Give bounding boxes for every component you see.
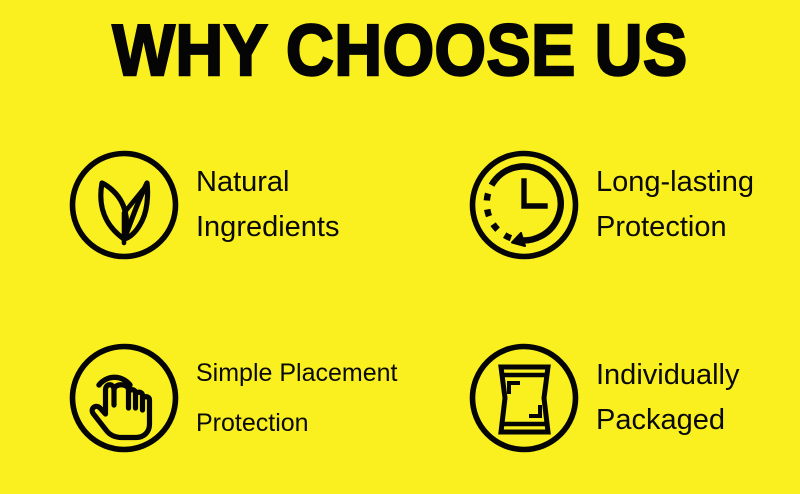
feature-label-line-2: Protection [196,398,397,448]
feature-label-line-2: Packaged [596,398,739,443]
feature-item-individually-packaged: Individually Packaged [400,301,800,494]
leaf-icon [68,149,180,261]
feature-label-line-2: Ingredients [196,205,340,250]
feature-label-line-2: Protection [596,205,754,250]
feature-item-long-lasting-protection: Long-lasting Protection [400,108,800,301]
clock-arrow-icon [468,149,580,261]
feature-label: Long-lasting Protection [596,160,754,250]
why-choose-us-poster: WHY CHOOSE US Natural Ingredients [0,0,800,494]
feature-label-line-1: Individually [596,353,739,398]
feature-item-natural-ingredients: Natural Ingredients [0,108,400,301]
feature-item-simple-placement-protection: Simple Placement Protection [0,301,400,494]
feature-label: Individually Packaged [596,353,739,443]
feature-label: Natural Ingredients [196,160,340,250]
feature-label: Simple Placement Protection [196,348,397,448]
feature-grid: Natural Ingredients Lon [0,108,800,494]
feature-label-line-1: Natural [196,160,340,205]
sachet-package-icon [468,342,580,454]
tap-hand-icon [68,342,180,454]
feature-label-line-1: Long-lasting [596,160,754,205]
feature-label-line-1: Simple Placement [196,348,397,398]
page-title: WHY CHOOSE US [32,14,768,88]
